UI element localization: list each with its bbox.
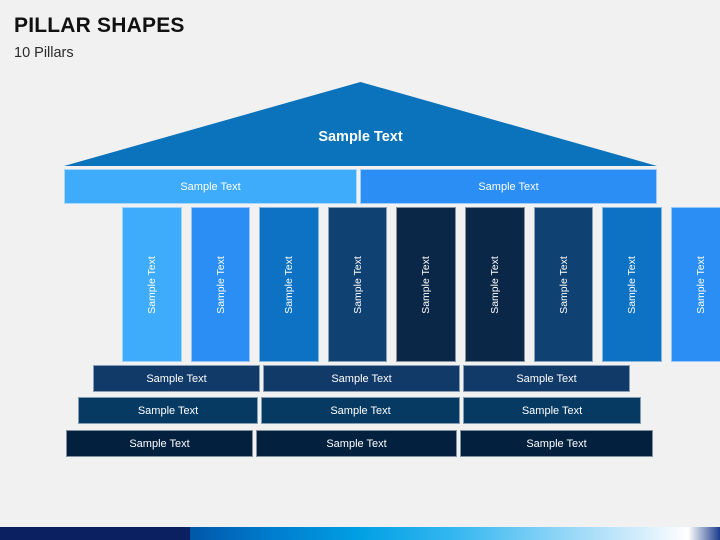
column-2[interactable]: Sample Text bbox=[191, 207, 251, 362]
column-1-label: Sample Text bbox=[146, 256, 158, 314]
column-7-label: Sample Text bbox=[557, 256, 569, 314]
pediment-roof[interactable]: Sample Text bbox=[64, 82, 657, 166]
base-step-2-3[interactable]: Sample Text bbox=[463, 397, 641, 424]
architrave-bar-right[interactable]: Sample Text bbox=[360, 169, 657, 204]
pediment-label: Sample Text bbox=[64, 129, 657, 145]
base-step-2-2[interactable]: Sample Text bbox=[261, 397, 460, 424]
bottom-accent-bar bbox=[0, 527, 720, 540]
header: PILLAR SHAPES 10 Pillars bbox=[14, 14, 514, 62]
columns-group: Sample Text Sample Text Sample Text Samp… bbox=[122, 207, 599, 362]
base-step-row-3: Sample Text Sample Text Sample Text bbox=[66, 430, 653, 457]
page-subtitle: 10 Pillars bbox=[14, 46, 514, 62]
column-4-label: Sample Text bbox=[352, 256, 364, 314]
base-step-1-3[interactable]: Sample Text bbox=[463, 365, 630, 392]
base-step-row-2: Sample Text Sample Text Sample Text bbox=[78, 397, 641, 424]
column-9[interactable]: Sample Text bbox=[671, 207, 720, 362]
page-title: PILLAR SHAPES bbox=[14, 14, 514, 37]
column-6-label: Sample Text bbox=[489, 256, 501, 314]
column-3-label: Sample Text bbox=[283, 256, 295, 314]
pediment-triangle-shape bbox=[64, 82, 657, 166]
bottom-accent-gradient bbox=[190, 527, 720, 540]
column-2-label: Sample Text bbox=[214, 256, 226, 314]
column-5[interactable]: Sample Text bbox=[396, 207, 456, 362]
column-8[interactable]: Sample Text bbox=[602, 207, 662, 362]
column-8-label: Sample Text bbox=[626, 256, 638, 314]
column-3[interactable]: Sample Text bbox=[259, 207, 319, 362]
base-step-3-1[interactable]: Sample Text bbox=[66, 430, 253, 457]
base-step-2-1[interactable]: Sample Text bbox=[78, 397, 258, 424]
column-7[interactable]: Sample Text bbox=[534, 207, 594, 362]
base-step-1-2[interactable]: Sample Text bbox=[263, 365, 460, 392]
column-9-label: Sample Text bbox=[695, 256, 707, 314]
base-step-3-3[interactable]: Sample Text bbox=[460, 430, 653, 457]
pillar-temple-diagram: Sample Text Sample Text Sample Text Samp… bbox=[0, 0, 720, 540]
column-1[interactable]: Sample Text bbox=[122, 207, 182, 362]
column-5-label: Sample Text bbox=[420, 256, 432, 314]
column-4[interactable]: Sample Text bbox=[328, 207, 388, 362]
column-6[interactable]: Sample Text bbox=[465, 207, 525, 362]
architrave-bar-left[interactable]: Sample Text bbox=[64, 169, 357, 204]
architrave-band: Sample Text Sample Text bbox=[64, 169, 657, 204]
bottom-accent-solid bbox=[0, 527, 190, 540]
base-step-1-1[interactable]: Sample Text bbox=[93, 365, 260, 392]
base-step-row-1: Sample Text Sample Text Sample Text bbox=[93, 365, 630, 392]
base-step-3-2[interactable]: Sample Text bbox=[256, 430, 457, 457]
